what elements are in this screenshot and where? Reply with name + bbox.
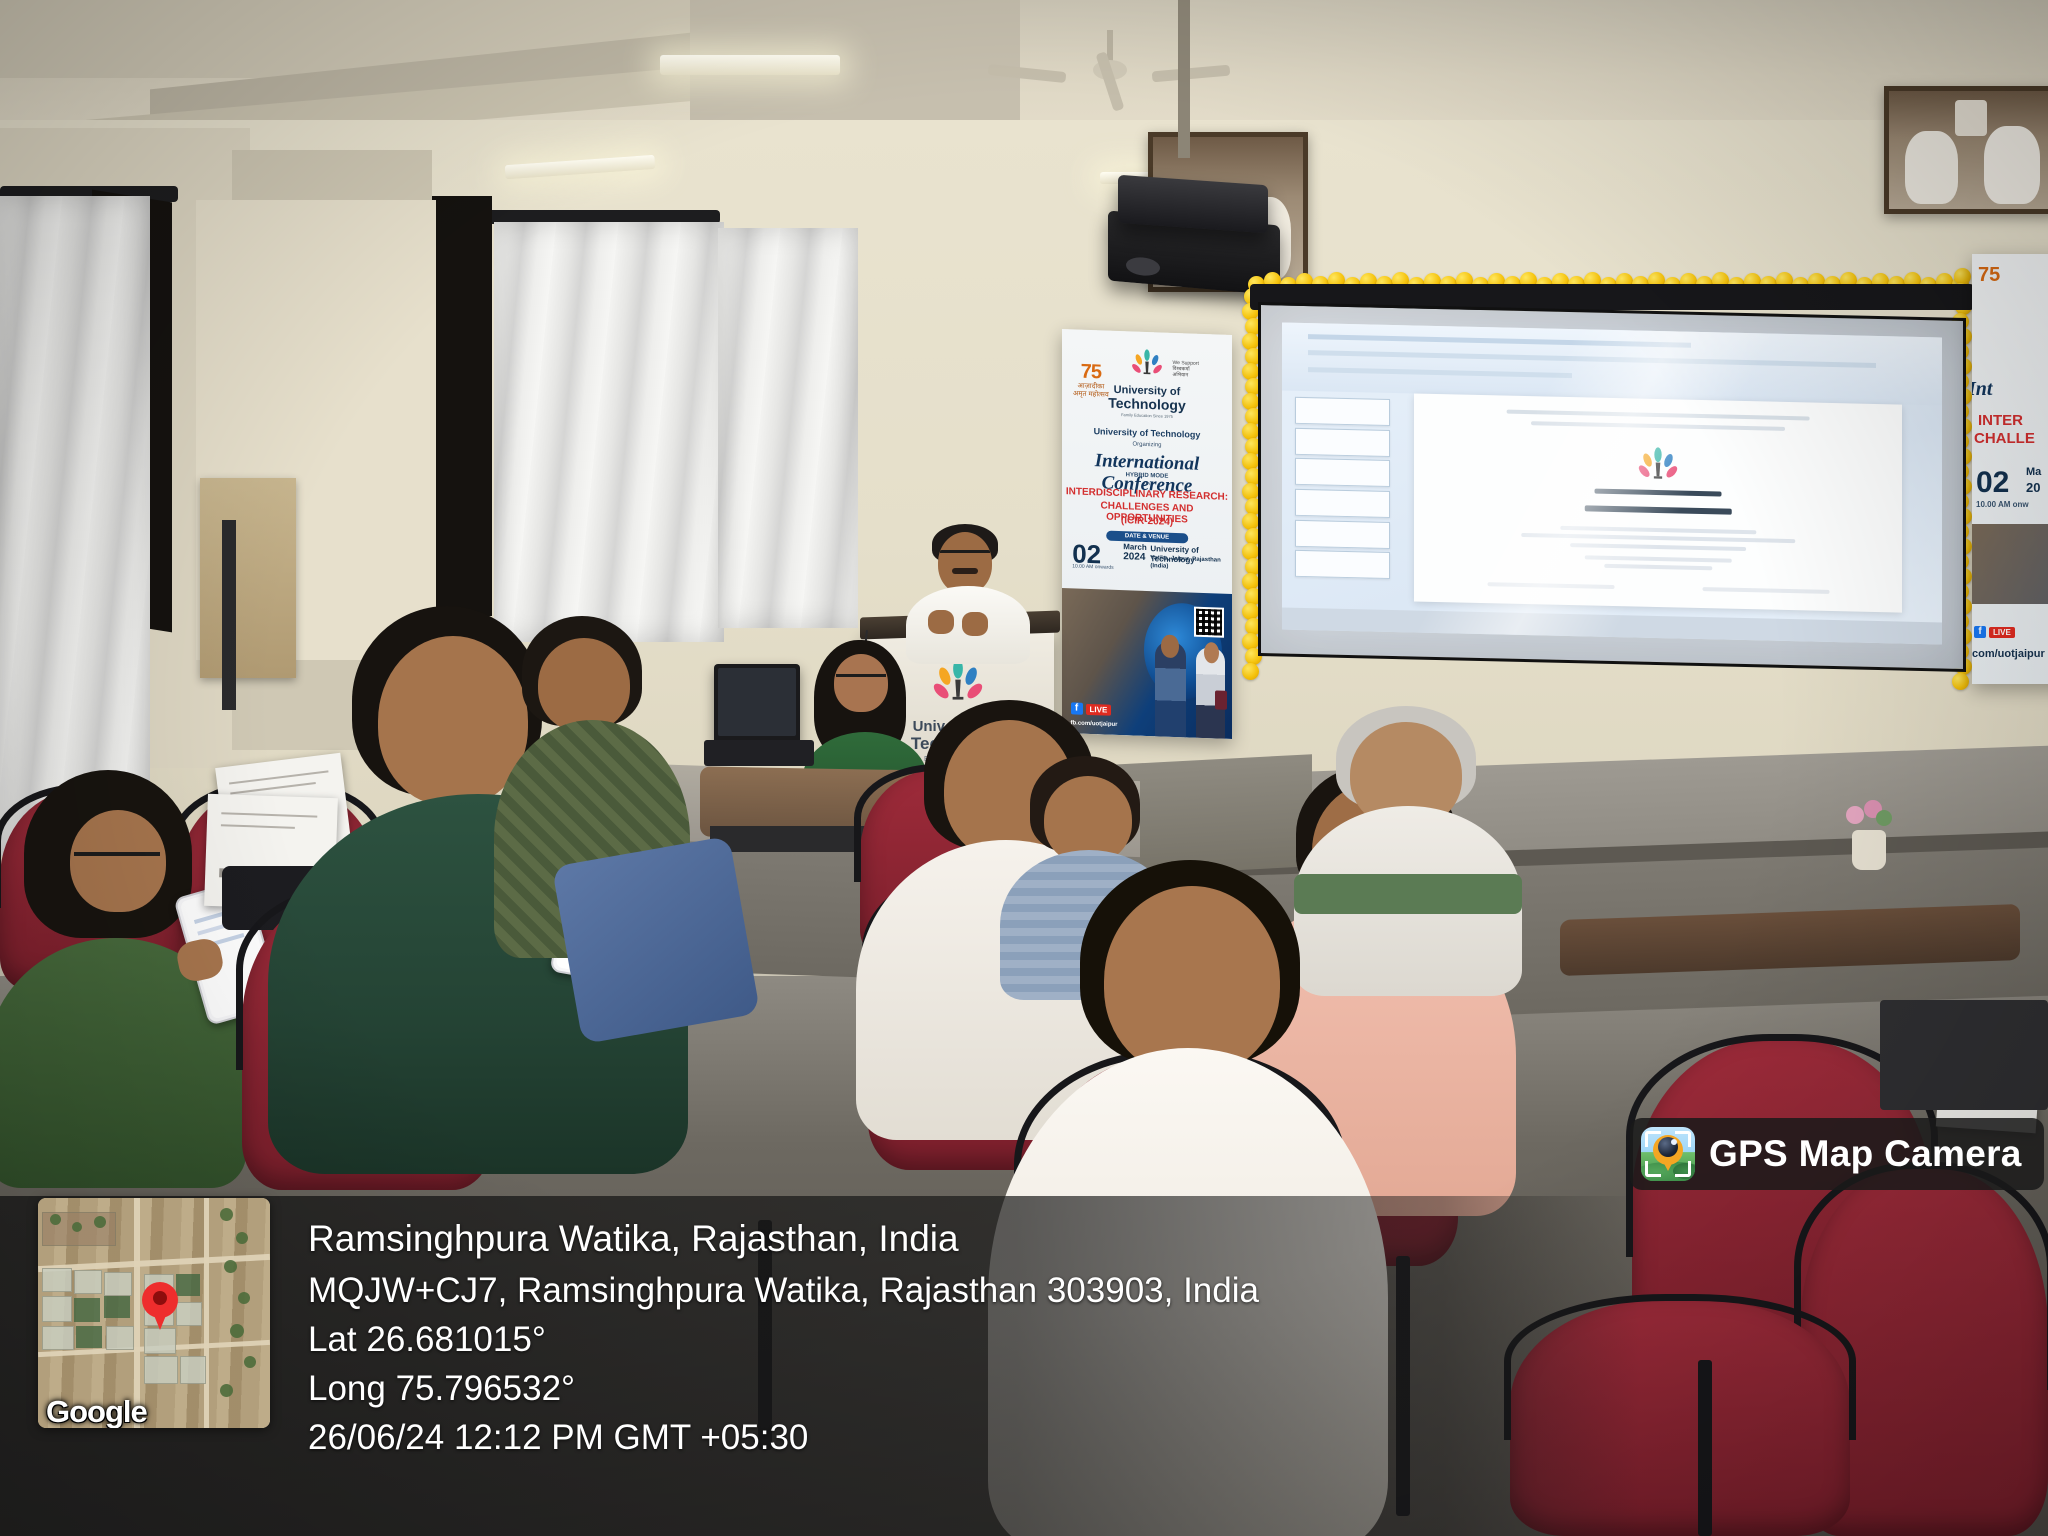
banner-right-title-1: INTER — [1978, 412, 2023, 429]
curtain-center-2 — [718, 228, 858, 628]
powerpoint-window — [1282, 323, 1942, 644]
denim-leg — [552, 836, 761, 1045]
chair-leg — [1698, 1360, 1712, 1536]
projector-mount-rod — [1178, 0, 1190, 158]
gps-latitude: Lat 26.681015° — [308, 1315, 1508, 1364]
conference-banner-right: 75 Int INTER CHALLE 02 Ma 20 10.00 AM on… — [1972, 254, 2048, 684]
gps-map-camera-icon — [1641, 1127, 1695, 1181]
monitor-base — [704, 740, 814, 766]
banner-time: 10.00 AM onwards — [1072, 563, 1113, 570]
speaker-hand-right — [962, 612, 988, 636]
banner-right-year: 20 — [2026, 480, 2040, 495]
qr-code-icon — [1194, 607, 1224, 638]
banner-venue-2: Vatika, Jaipur, Rajasthan (India) — [1150, 555, 1232, 573]
table-right — [1880, 1000, 2048, 1110]
banner-right-photo — [1972, 524, 2048, 604]
projection-screen — [1258, 302, 1966, 672]
ceiling-fan — [1040, 30, 1180, 90]
eyeglasses — [836, 674, 886, 687]
gps-address-line-1: Ramsinghpura Watika, Rajasthan, India — [308, 1212, 1508, 1266]
banner-right-month: Ma — [2026, 466, 2041, 478]
screen-glare — [1282, 323, 1942, 644]
computer-monitor — [714, 664, 800, 746]
gps-map-thumbnail[interactable]: Google — [38, 1198, 270, 1428]
facebook-live-badge-right: f LIVE — [1974, 626, 2015, 638]
tube-light-1 — [660, 55, 840, 75]
eyeglasses — [74, 852, 160, 870]
conference-banner-left: 75 आज़ादी‌का अमृत महोत्सव We Support विश… — [1062, 329, 1232, 739]
map-pin-icon — [142, 1282, 178, 1318]
moustache — [952, 568, 978, 574]
support-note: We Support विश्वकर्मा अभियान — [1173, 361, 1227, 380]
eyeglasses — [940, 550, 990, 565]
students-photo — [1150, 623, 1228, 739]
google-watermark: Google — [46, 1394, 147, 1428]
university-of-technology-logo-icon — [1130, 347, 1164, 382]
speaker-hand-left — [928, 610, 954, 634]
banner-right-day: 02 — [1976, 466, 2009, 500]
window-frame-center — [432, 196, 492, 616]
gps-info-text: Ramsinghpura Watika, Rajasthan, India MQ… — [308, 1212, 1508, 1462]
gps-timestamp: 26/06/24 12:12 PM GMT +05:30 — [308, 1413, 1508, 1462]
banner-date-venue-label: DATE & VENUE — [1106, 531, 1188, 544]
board-stand — [222, 520, 236, 710]
screenshot-root: 75 आज़ादी‌का अमृत महोत्सव We Support विश… — [0, 0, 2048, 1536]
facebook-icon: f — [1974, 626, 1986, 638]
banner-right-title-2: CHALLE — [1974, 430, 2035, 447]
gps-map-camera-badge: GPS Map Camera — [1630, 1118, 2044, 1190]
speaker-at-podium — [900, 524, 1040, 644]
gps-address-line-2: MQJW+CJ7, Ramsinghpura Watika, Rajasthan… — [308, 1266, 1508, 1315]
framed-photo-dignitaries — [1884, 86, 2048, 214]
banner-year: 2024 — [1123, 551, 1145, 563]
gps-app-name: GPS Map Camera — [1709, 1133, 2022, 1175]
azadi-badge-right: 75 — [1978, 264, 2000, 287]
banner-organizer: University of Technology — [1062, 425, 1232, 441]
curtain-left — [0, 196, 150, 856]
banner-right-time: 10.00 AM onw — [1976, 500, 2029, 509]
banner-right-fb-url: com/uotjaipur — [1972, 648, 2045, 660]
banner-right-event-type: Int — [1972, 378, 2048, 401]
curtain-center — [494, 222, 724, 642]
flower-vase — [1836, 800, 1900, 870]
gps-longitude: Long 75.796532° — [308, 1364, 1508, 1413]
